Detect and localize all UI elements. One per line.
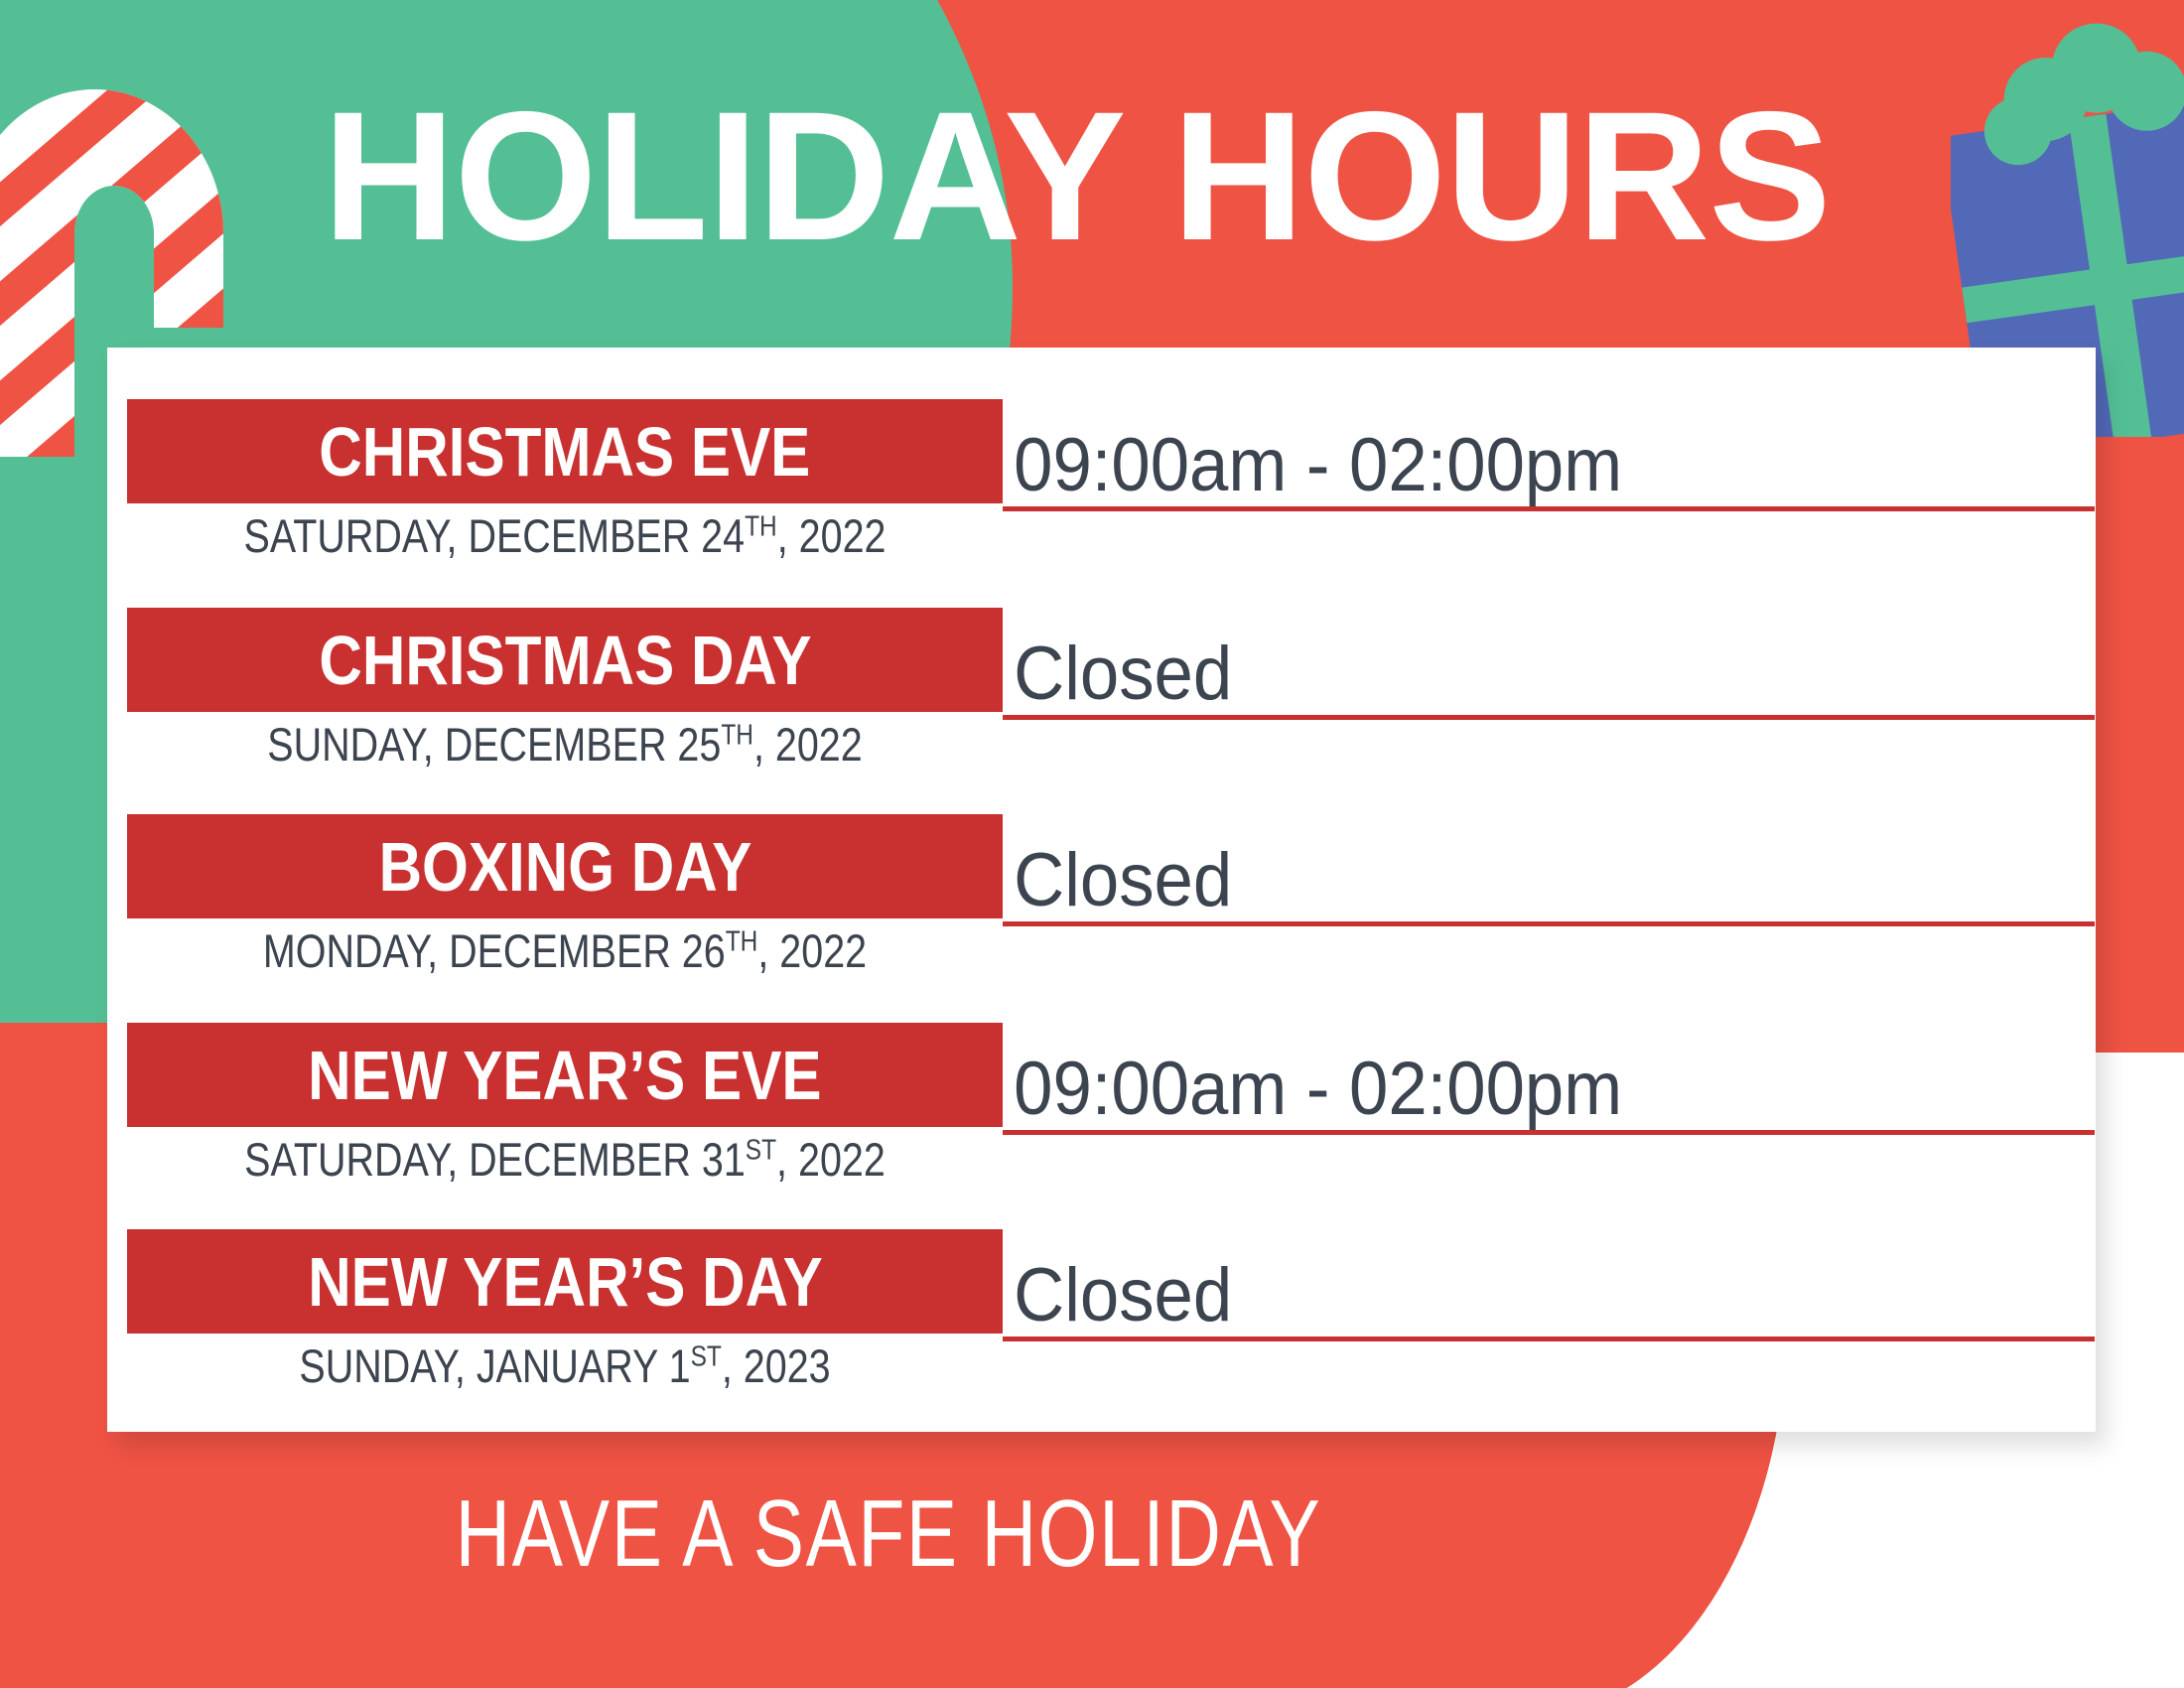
footer-tagline: HAVE A SAFE HOLIDAY (178, 1479, 1599, 1589)
date-ordinal-suffix: ST (746, 1134, 776, 1166)
holiday-name: NEW YEAR’S DAY (308, 1242, 823, 1322)
table-row: NEW YEAR’S EVE SATURDAY, DECEMBER 31ST, … (107, 1023, 2096, 1227)
hours-value: 09:00am - 02:00pm (1003, 1050, 1622, 1130)
hours-cell: 09:00am - 02:00pm (1003, 399, 2095, 511)
holiday-name: NEW YEAR’S EVE (308, 1036, 821, 1115)
holiday-label-bar: NEW YEAR’S EVE (127, 1023, 1003, 1127)
hours-value: 09:00am - 02:00pm (1003, 426, 1622, 506)
page-title: HOLIDAY HOURS (323, 85, 1911, 269)
hours-cell: Closed (1003, 608, 2095, 720)
holiday-label-bar: NEW YEAR’S DAY (127, 1229, 1003, 1334)
holiday-label-bar: BOXING DAY (127, 814, 1003, 918)
date-ordinal-suffix: ST (691, 1340, 722, 1372)
hours-cell: 09:00am - 02:00pm (1003, 1023, 2095, 1135)
date-year: , 2022 (777, 509, 887, 562)
holiday-label-bar: CHRISTMAS EVE (127, 399, 1003, 503)
holiday-label-bar: CHRISTMAS DAY (127, 608, 1003, 712)
holiday-date: SUNDAY, DECEMBER 25TH, 2022 (198, 717, 933, 772)
schedule-card: CHRISTMAS EVE SATURDAY, DECEMBER 24TH, 2… (107, 348, 2096, 1432)
date-prefix: SATURDAY, DECEMBER 24 (243, 509, 745, 562)
schedule-rows: CHRISTMAS EVE SATURDAY, DECEMBER 24TH, 2… (107, 348, 2096, 1432)
table-row: CHRISTMAS EVE SATURDAY, DECEMBER 24TH, 2… (107, 399, 2096, 604)
hours-value: Closed (1003, 1256, 1232, 1336)
date-year: , 2022 (776, 1133, 886, 1186)
hours-cell: Closed (1003, 1229, 2095, 1341)
holiday-date: SATURDAY, DECEMBER 24TH, 2022 (198, 508, 933, 563)
date-ordinal-suffix: TH (745, 510, 777, 542)
holiday-name: BOXING DAY (378, 827, 751, 907)
date-ordinal-suffix: TH (726, 925, 758, 957)
holiday-name: CHRISTMAS DAY (319, 621, 811, 700)
date-year: , 2022 (753, 718, 863, 771)
table-row: BOXING DAY MONDAY, DECEMBER 26TH, 2022 C… (107, 814, 2096, 1019)
date-prefix: SUNDAY, DECEMBER 25 (267, 718, 721, 771)
table-row: NEW YEAR’S DAY SUNDAY, JANUARY 1ST, 2023… (107, 1229, 2096, 1434)
holiday-name: CHRISTMAS EVE (319, 412, 810, 492)
holiday-date: SUNDAY, JANUARY 1ST, 2023 (198, 1338, 933, 1393)
date-ordinal-suffix: TH (721, 719, 753, 751)
hours-cell: Closed (1003, 814, 2095, 926)
date-year: , 2023 (722, 1339, 831, 1392)
holiday-date: MONDAY, DECEMBER 26TH, 2022 (198, 923, 933, 978)
table-row: CHRISTMAS DAY SUNDAY, DECEMBER 25TH, 202… (107, 608, 2096, 812)
date-year: , 2022 (757, 924, 867, 977)
date-prefix: MONDAY, DECEMBER 26 (263, 924, 726, 977)
holiday-date: SATURDAY, DECEMBER 31ST, 2022 (198, 1132, 933, 1187)
hours-value: Closed (1003, 841, 1232, 921)
holiday-hours-poster: HOLIDAY HOURS CHRISTMAS EVE SATURDAY, DE… (0, 0, 2184, 1688)
date-prefix: SUNDAY, JANUARY 1 (299, 1339, 690, 1392)
hours-value: Closed (1003, 634, 1232, 715)
date-prefix: SATURDAY, DECEMBER 31 (244, 1133, 746, 1186)
